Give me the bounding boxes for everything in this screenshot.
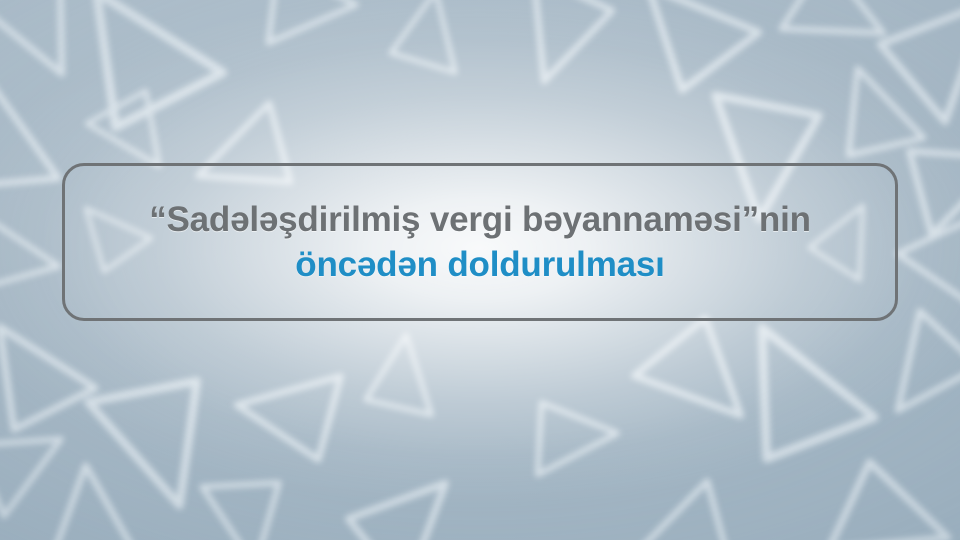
title-line-secondary: öncədən doldurulması xyxy=(295,244,664,285)
title-line-primary: “Sadələşdirilmiş vergi bəyannaməsi”nin xyxy=(149,199,811,240)
title-frame: “Sadələşdirilmiş vergi bəyannaməsi”nin ö… xyxy=(62,163,898,321)
title-slide: “Sadələşdirilmiş vergi bəyannaməsi”nin ö… xyxy=(0,0,960,540)
